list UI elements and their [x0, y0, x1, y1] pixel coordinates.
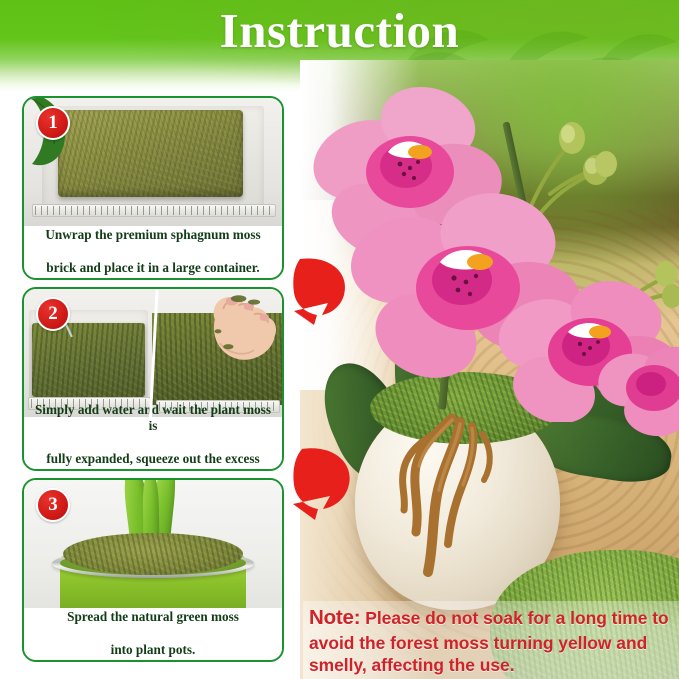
step-3-caption-line-2: into plant pots. — [67, 642, 239, 659]
note-label: Note: — [309, 606, 360, 629]
step-2-caption: Simply add water and wait the plant moss… — [24, 417, 282, 469]
step-number-badge-1: 1 — [36, 106, 70, 140]
step-card-1: 1 Unwrap the premium sphagnum moss brick… — [22, 96, 284, 280]
step-number-2: 2 — [48, 303, 58, 325]
hero-product-photo — [300, 60, 679, 679]
orchid-blossom-far-right — [596, 336, 679, 441]
moss-brick — [58, 110, 244, 197]
step-number-badge-2: 2 — [36, 297, 70, 331]
measuring-ruler — [32, 204, 277, 217]
note-line-3: smelly, affecting the use. — [309, 655, 515, 675]
step-number-badge-3: 3 — [36, 488, 70, 522]
note-line-1: Please do not soak for a long time to — [365, 608, 668, 628]
step-3-caption: Spread the natural green moss into plant… — [24, 608, 282, 660]
note-box: Note: Please do not soak for a long time… — [303, 601, 679, 679]
note-text: Note: Please do not soak for a long time… — [309, 605, 673, 677]
note-line-2: avoid the forest moss turning yellow and — [309, 633, 647, 653]
instruction-infographic: Instruction 1 Unwrap the premium sphagnu… — [0, 0, 679, 679]
step-card-2: 2 Simply add water and wait the plant mo… — [22, 287, 284, 471]
green-moss-in-pot — [63, 533, 244, 575]
arrow-step1-to-step2-icon — [284, 253, 356, 325]
step-number-3: 3 — [48, 494, 58, 516]
step-1-caption-line-1: Unwrap the premium sphagnum moss — [45, 227, 260, 244]
step-card-3: 3 Spread the natural green moss into pla… — [22, 478, 284, 662]
bud — [559, 122, 585, 154]
step-1-caption: Unwrap the premium sphagnum moss brick a… — [24, 226, 282, 278]
bud — [595, 151, 617, 177]
step-2-caption-line-1: Simply add water and wait the plant moss… — [30, 402, 276, 435]
page-title: Instruction — [0, 6, 679, 55]
orchid-aerial-roots — [386, 412, 516, 597]
step-1-caption-line-2: brick and place it in a large container. — [45, 260, 260, 277]
step-number-1: 1 — [48, 112, 58, 134]
step-2-caption-line-2: fully expanded, squeeze out the excess w… — [30, 451, 276, 471]
step-3-caption-line-1: Spread the natural green moss — [67, 609, 239, 626]
hand-squeezing-moss-icon — [194, 289, 280, 392]
arrow-step2-to-step3-icon — [284, 444, 360, 520]
